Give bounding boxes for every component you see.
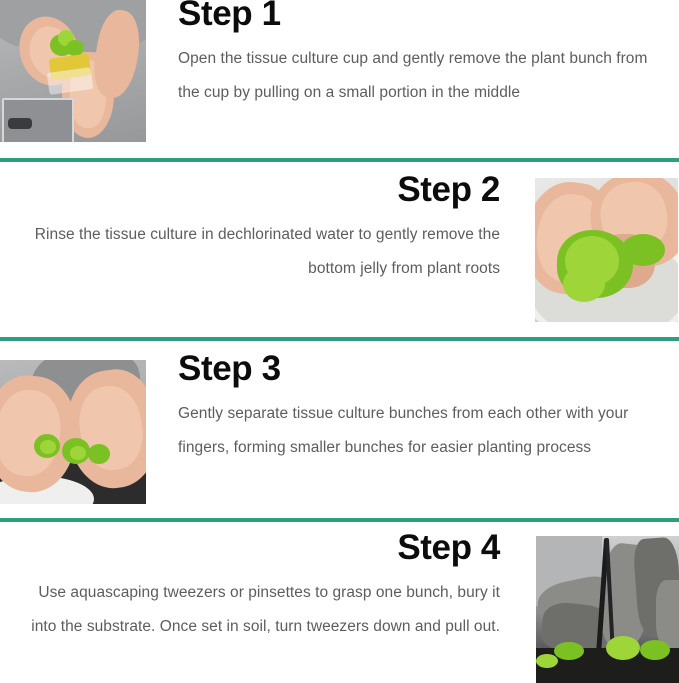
step-3-heading: Step 3 xyxy=(178,351,648,386)
step-4-description: Use aquascaping tweezers or pinsettes to… xyxy=(30,576,500,644)
step-card-2: Step 2 Rinse the tissue culture in dechl… xyxy=(0,162,679,337)
step-1-text-block: Step 1 Open the tissue culture cup and g… xyxy=(178,0,648,110)
step-4-photo xyxy=(536,536,679,683)
step-2-description: Rinse the tissue culture in dechlorinate… xyxy=(30,218,500,286)
step-4-text-block: Step 4 Use aquascaping tweezers or pinse… xyxy=(30,530,500,644)
step-card-4: Step 4 Use aquascaping tweezers or pinse… xyxy=(0,522,679,683)
step-1-photo xyxy=(0,0,146,142)
step-card-3: Step 3 Gently separate tissue culture bu… xyxy=(0,341,679,518)
step-card-1: Step 1 Open the tissue culture cup and g… xyxy=(0,0,679,158)
step-2-text-block: Step 2 Rinse the tissue culture in dechl… xyxy=(30,172,500,286)
step-2-photo xyxy=(535,178,678,322)
step-2-heading: Step 2 xyxy=(30,172,500,207)
step-1-heading: Step 1 xyxy=(178,0,648,31)
step-4-heading: Step 4 xyxy=(30,530,500,565)
step-3-description: Gently separate tissue culture bunches f… xyxy=(178,397,648,465)
planting-steps-infographic: Step 1 Open the tissue culture cup and g… xyxy=(0,0,679,683)
step-3-text-block: Step 3 Gently separate tissue culture bu… xyxy=(178,351,648,465)
step-1-description: Open the tissue culture cup and gently r… xyxy=(178,42,648,110)
step-3-photo xyxy=(0,360,146,504)
